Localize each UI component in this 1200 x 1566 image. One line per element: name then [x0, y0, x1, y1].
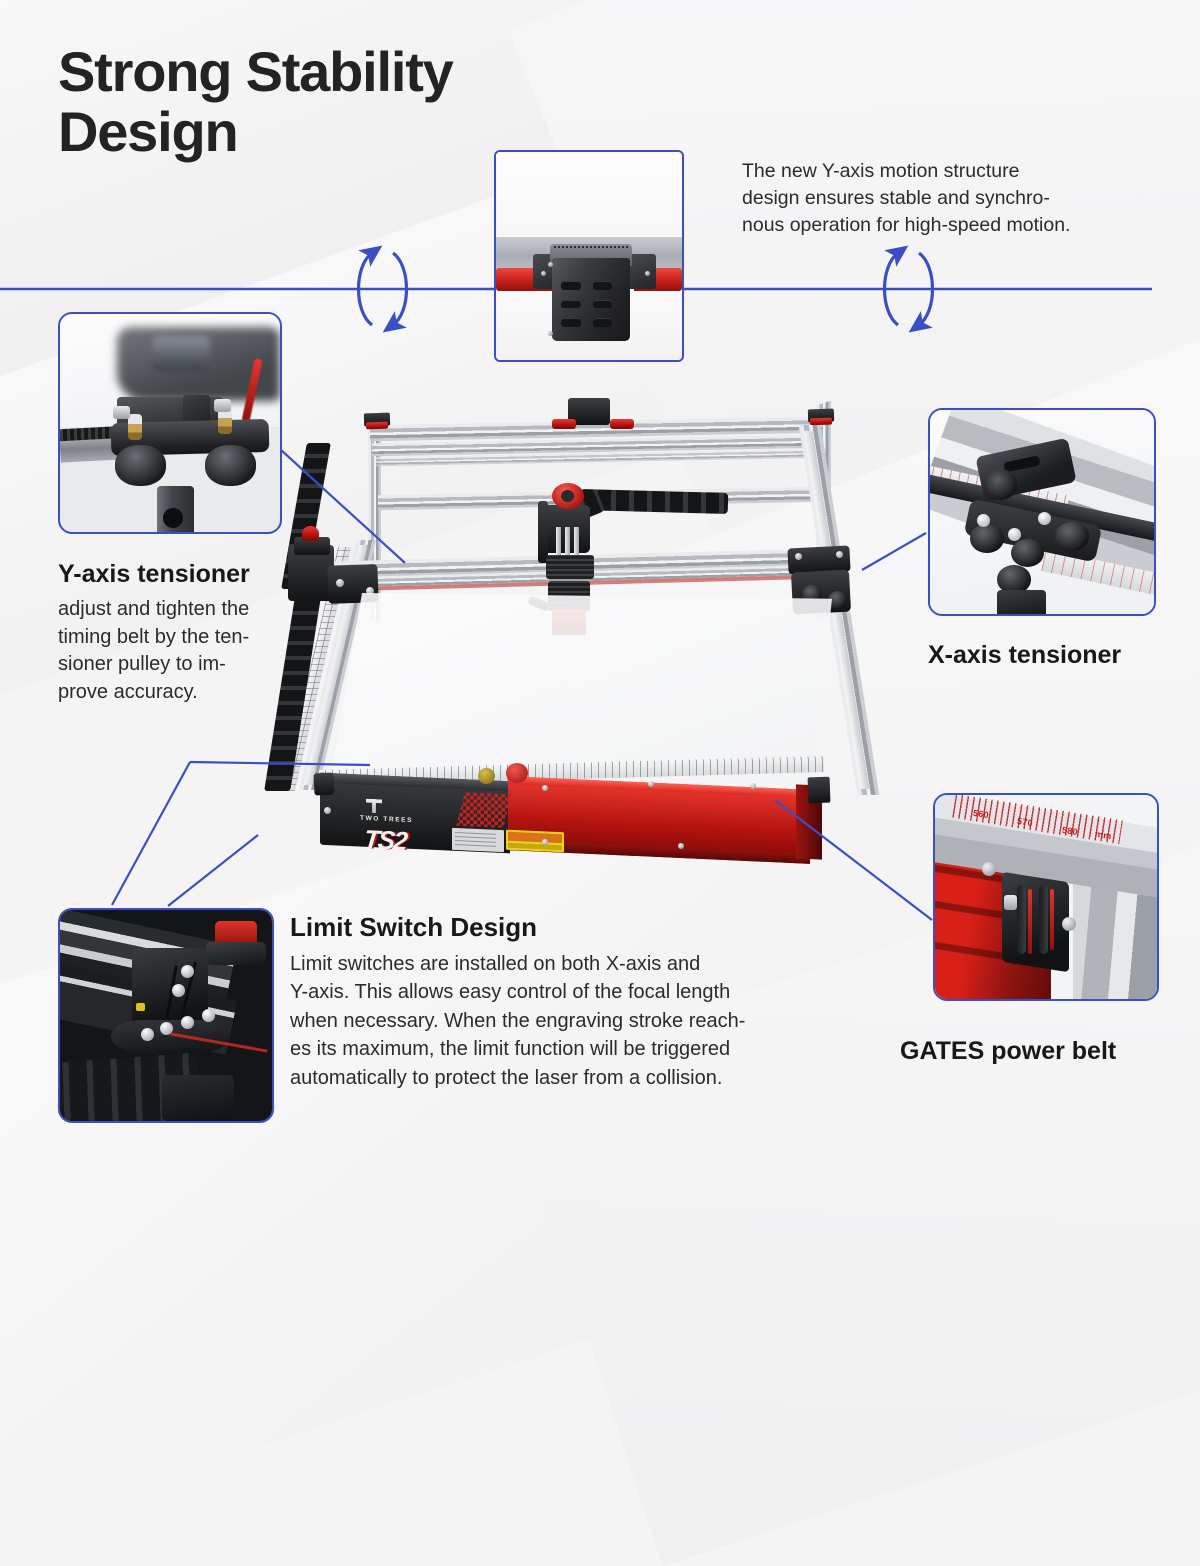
ruler-mark-unit: mm [1094, 828, 1112, 840]
callout-y-motion-body: The new Y-axis motion structure design e… [742, 158, 1172, 239]
callout-limit-switch-body: Limit switches are installed on both X-a… [290, 950, 835, 1092]
inset-photo-y-axis-motion [494, 150, 684, 362]
callout-limit-switch-heading: Limit Switch Design [290, 912, 537, 943]
ruler-mark-580: 580 [1061, 824, 1078, 836]
callout-y-tensioner-heading: Y-axis tensioner [58, 560, 250, 589]
callout-gates-belt-heading: GATES power belt [900, 1037, 1116, 1066]
inset-photo-limit-switch [58, 908, 274, 1123]
inset-photo-y-axis-tensioner [58, 312, 282, 534]
product-model-logo: TS2 [362, 824, 407, 857]
callout-y-tensioner-body: adjust and tighten the timing belt by th… [58, 596, 308, 706]
callout-x-tensioner-heading: X-axis tensioner [928, 641, 1121, 670]
page-title: Strong Stability Design [58, 42, 453, 163]
product-photo-ts2-laser-engraver: TWO TREES TS2 [280, 395, 920, 895]
inset-photo-gates-power-belt: 560 570 580 mm [933, 793, 1159, 1001]
inset-photo-x-axis-tensioner [928, 408, 1156, 616]
